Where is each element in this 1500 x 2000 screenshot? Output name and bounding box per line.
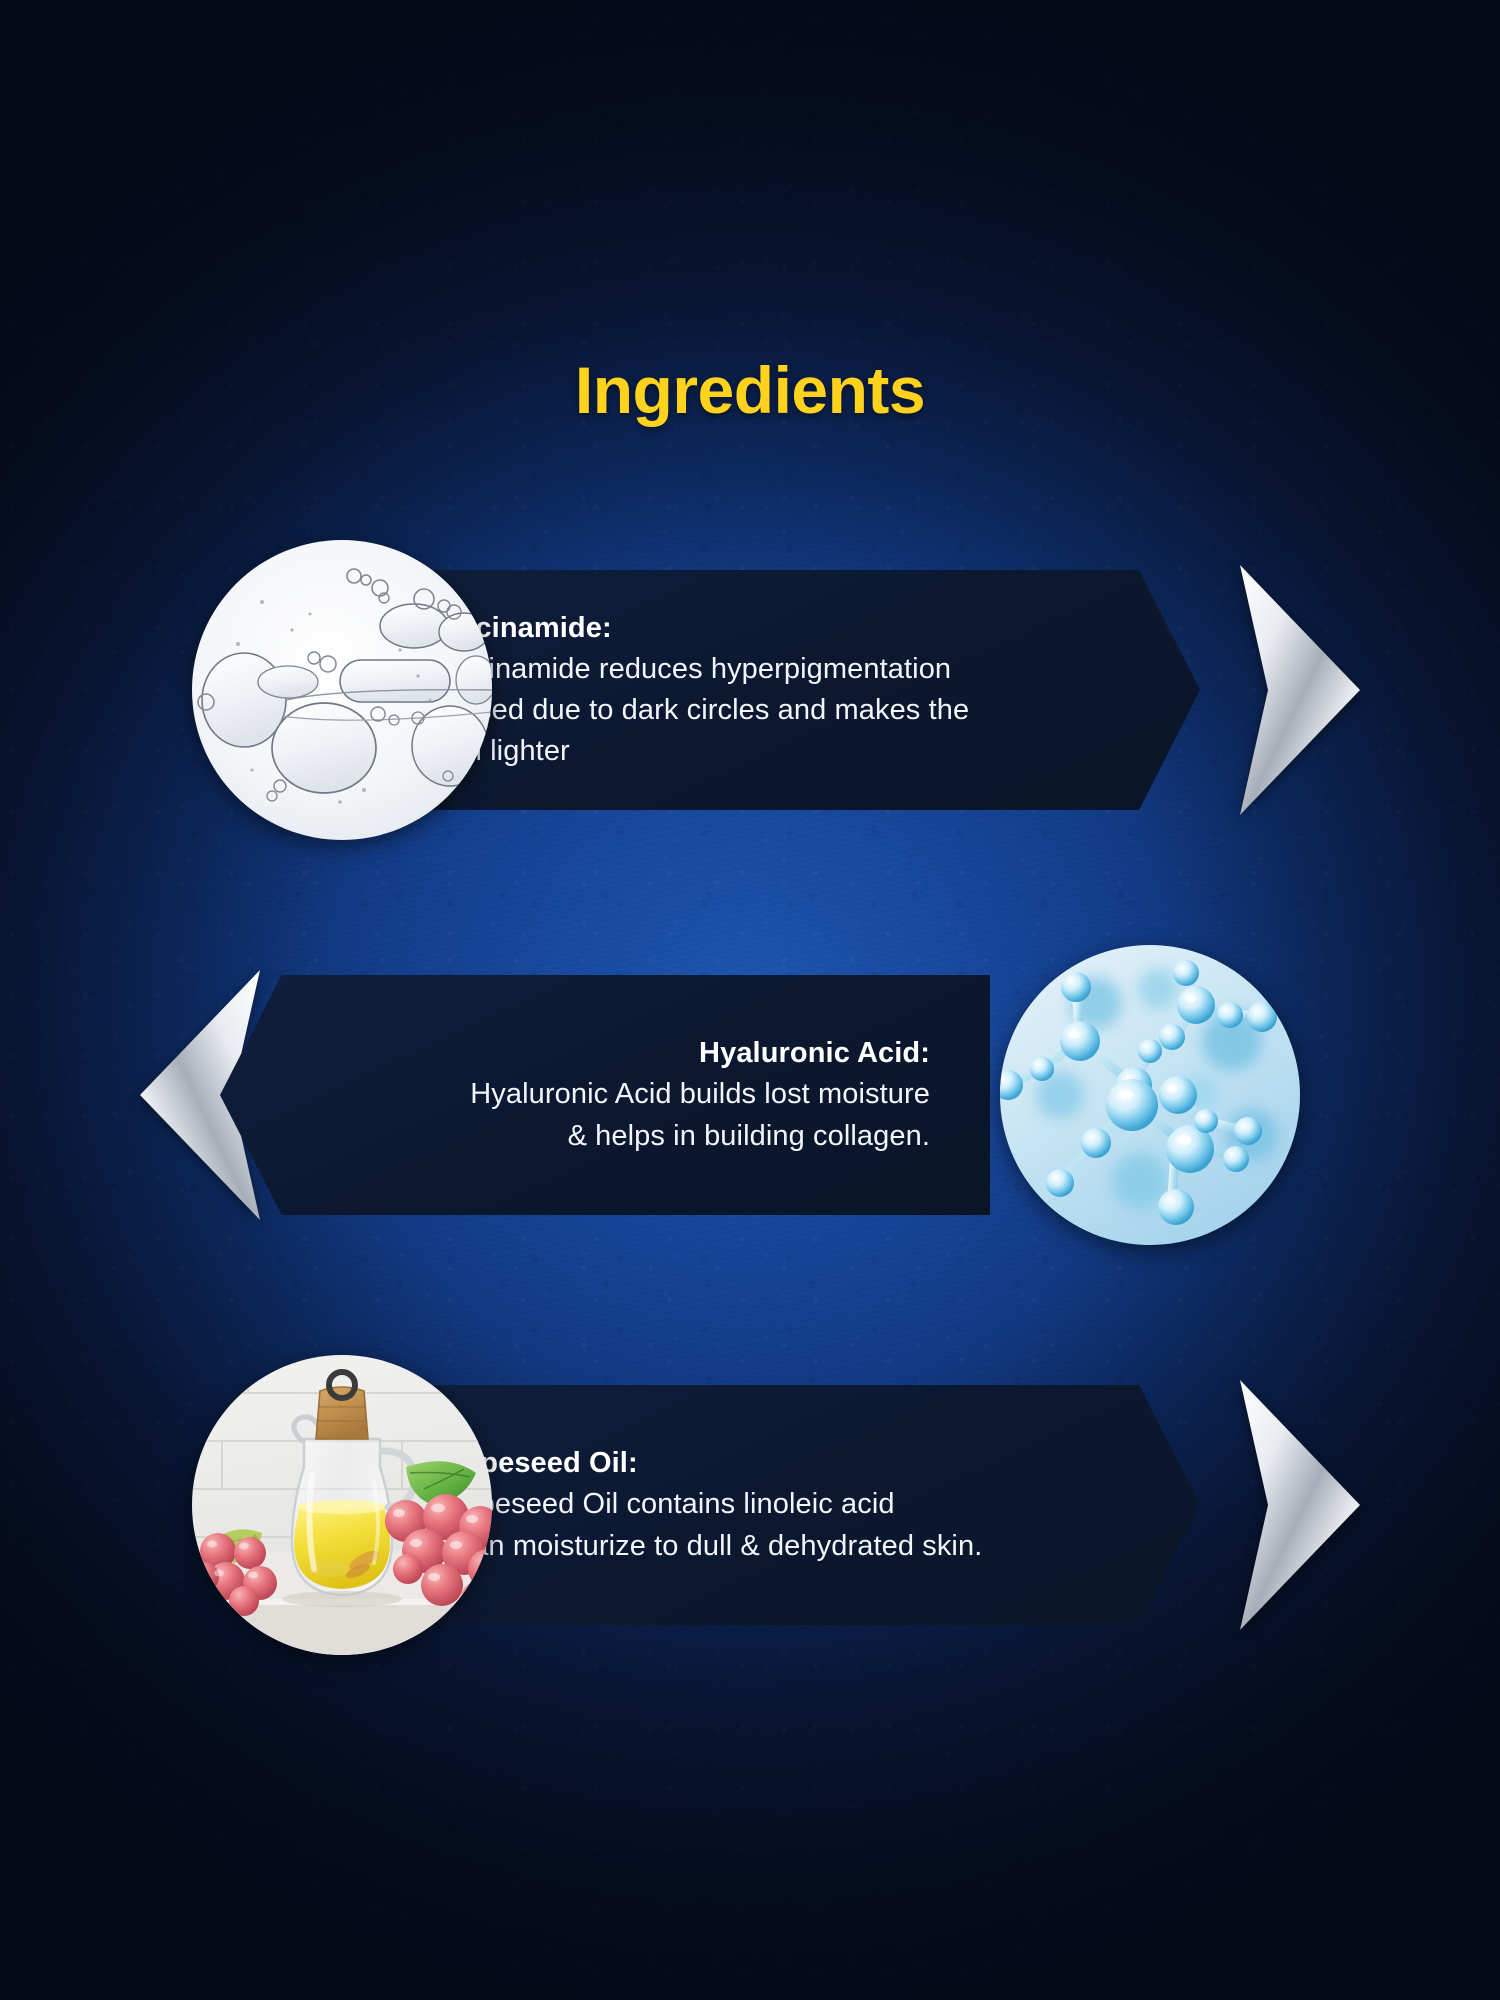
ingredient-image-hyaluronic-acid	[1000, 945, 1300, 1245]
chevron-right-icon	[1240, 565, 1360, 815]
ingredient-desc-line: Niacinamide reduces hyperpigmentation	[430, 649, 1080, 690]
ingredient-image-grapeseed-oil	[192, 1355, 492, 1655]
oil-bottle-icon	[192, 1355, 492, 1655]
molecule-icon	[1000, 945, 1300, 1245]
ingredient-desc-line: skin lighter	[430, 731, 1080, 772]
ingredient-heading: Hyaluronic Acid:	[340, 1033, 930, 1074]
ingredient-desc-line: caused due to dark circles and makes the	[430, 690, 1080, 731]
page-title: Ingredients	[0, 352, 1500, 428]
ingredient-heading: Niacinamide:	[430, 608, 1080, 649]
ingredient-row-grapeseed-oil: Grapeseed Oil: Grapeseed Oil contains li…	[0, 1340, 1500, 1670]
ingredient-desc-line: & helps in building collagen.	[340, 1116, 930, 1157]
ingredient-desc-line: Grapeseed Oil contains linoleic acid	[430, 1484, 1080, 1525]
chevron-right-icon	[1240, 1380, 1360, 1630]
gel-bubbles-icon	[192, 540, 492, 840]
ingredient-card-hyaluronic-acid: Hyaluronic Acid: Hyaluronic Acid builds …	[220, 975, 990, 1215]
ingredients-poster: Ingredients Niacinamide: Niacinamide red…	[0, 0, 1500, 2000]
ingredient-desc-line: Hyaluronic Acid builds lost moisture	[340, 1074, 930, 1115]
ingredient-desc-line: & can moisturize to dull & dehydrated sk…	[430, 1526, 1080, 1567]
ingredient-row-niacinamide: Niacinamide: Niacinamide reduces hyperpi…	[0, 525, 1500, 855]
ingredient-image-niacinamide	[192, 540, 492, 840]
ingredient-heading: Grapeseed Oil:	[430, 1443, 1080, 1484]
ingredient-row-hyaluronic-acid: Hyaluronic Acid: Hyaluronic Acid builds …	[0, 930, 1500, 1260]
